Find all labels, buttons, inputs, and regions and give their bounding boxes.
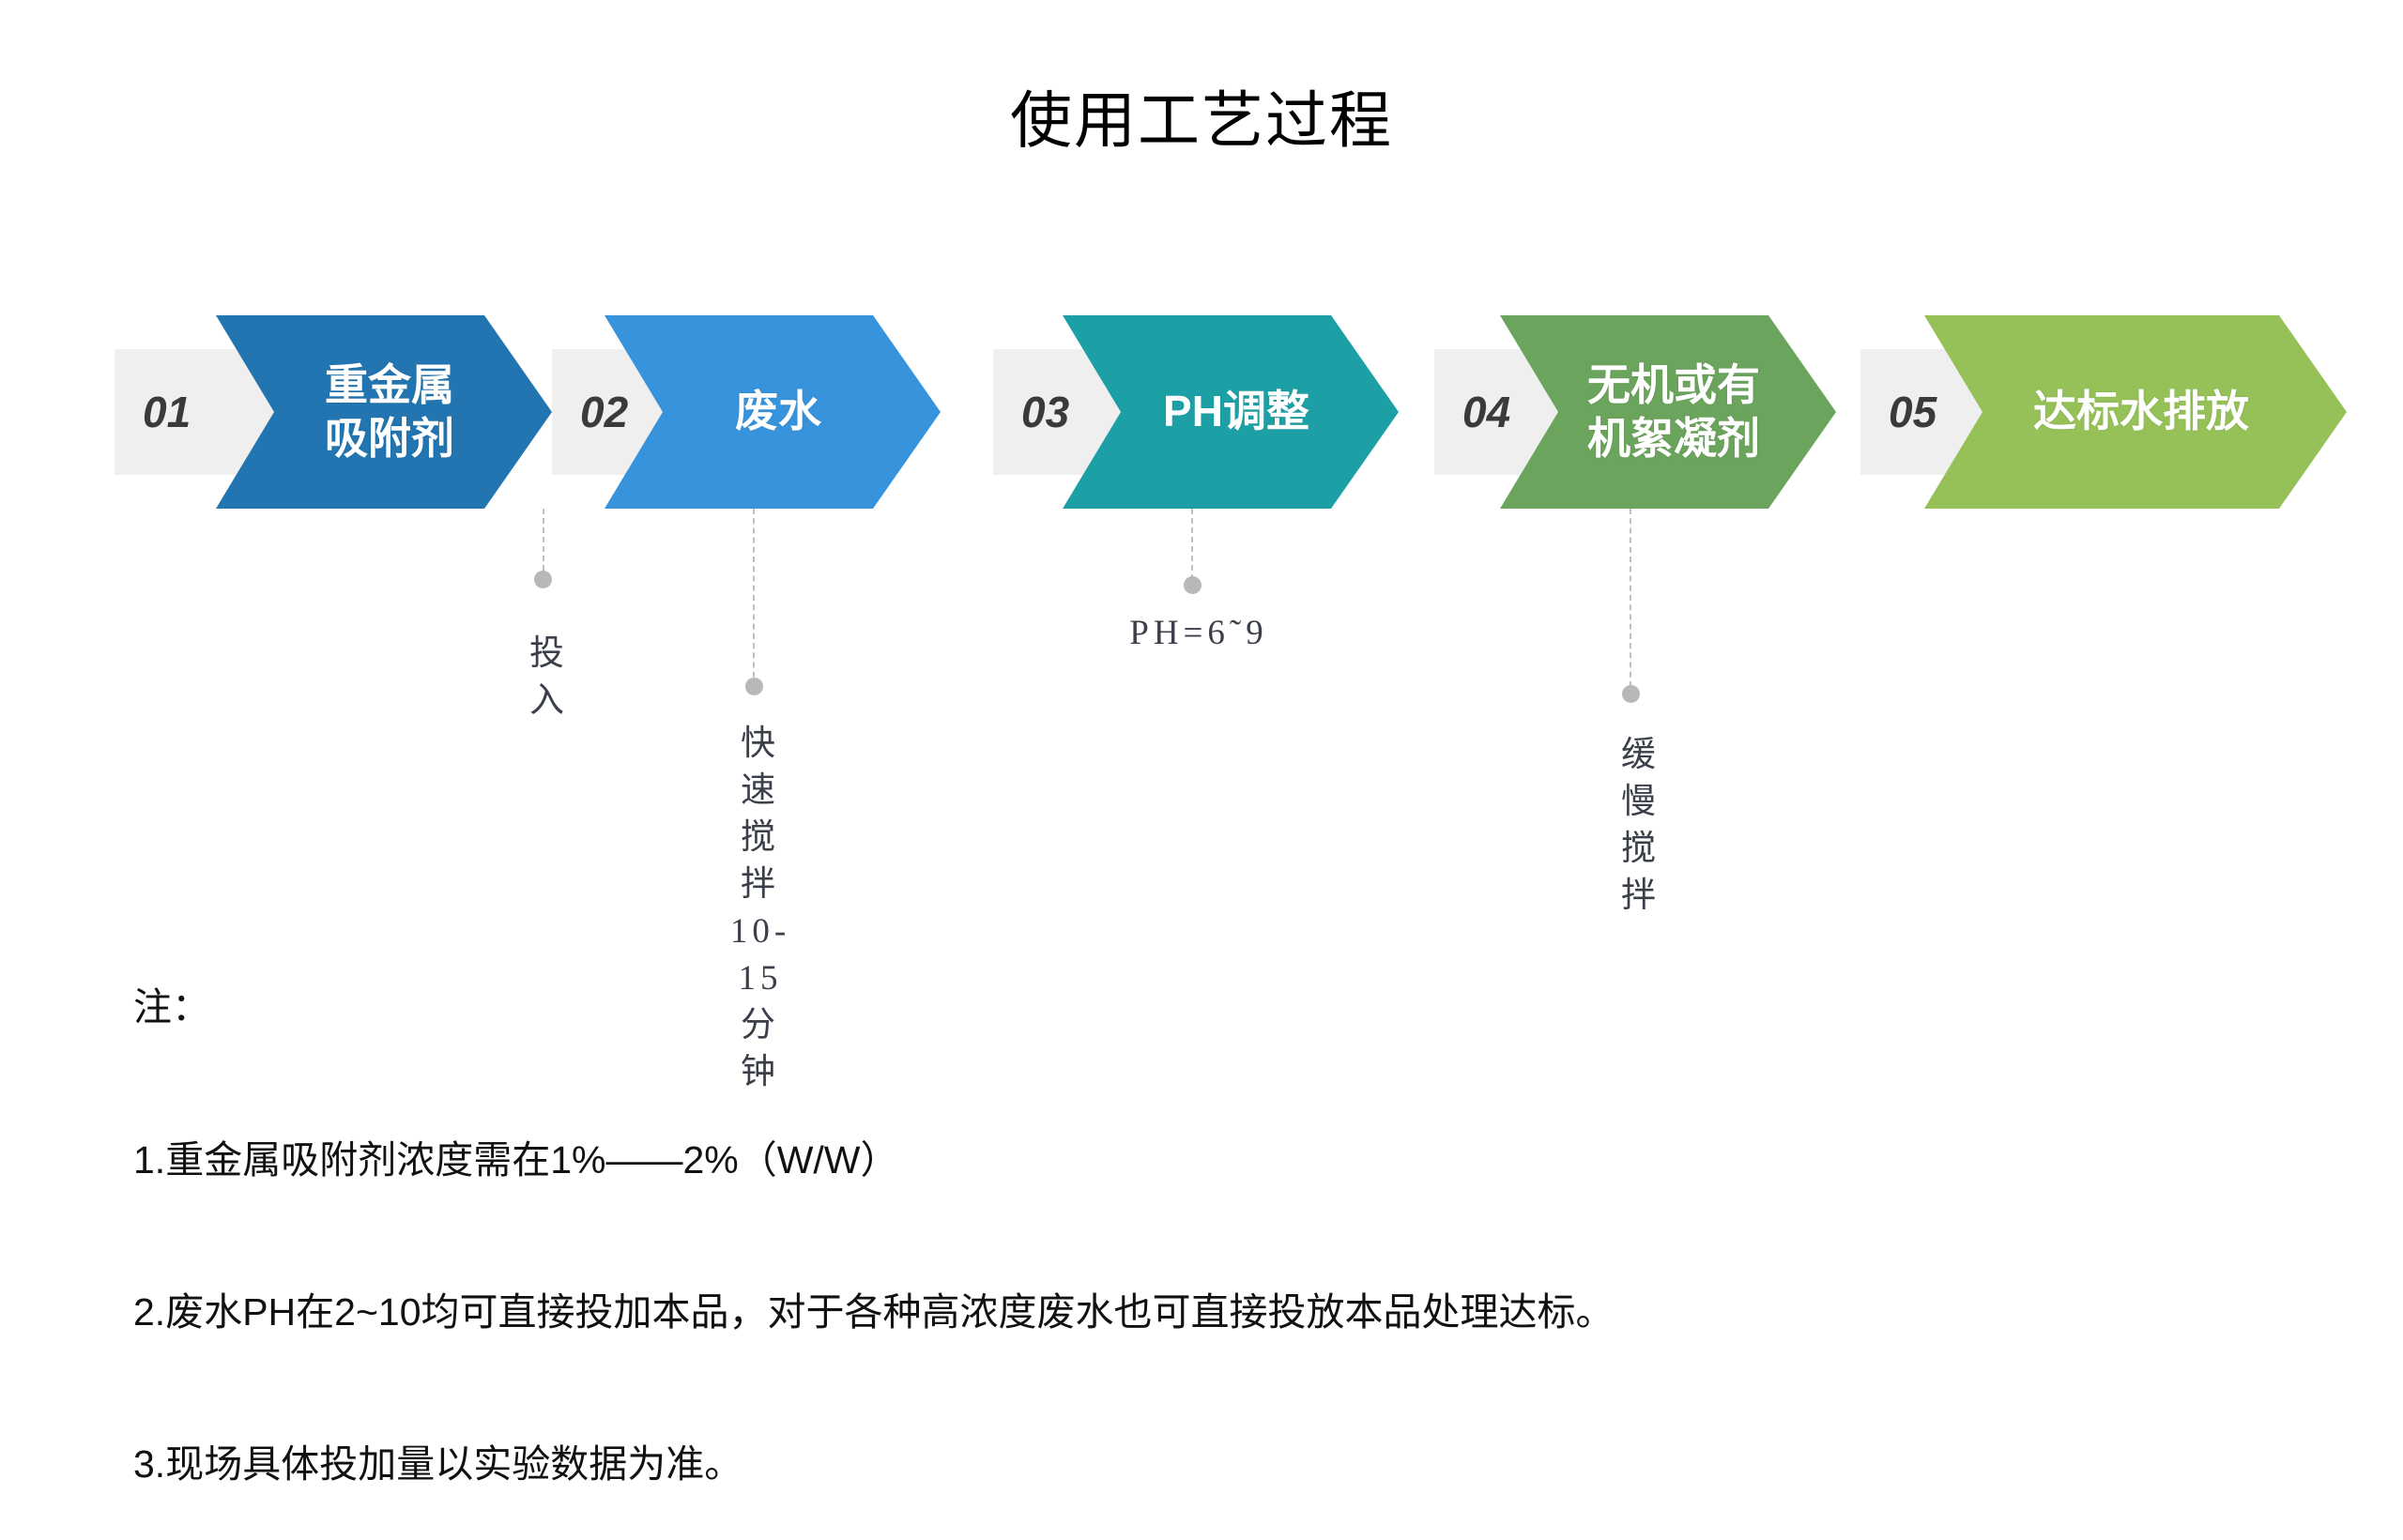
annotation-text-01: 投入 — [529, 631, 569, 724]
step-number-05: 05 — [1860, 387, 1936, 437]
step-number-03: 03 — [993, 387, 1069, 437]
annotation-text-03: PH=6˜9 — [1129, 610, 1268, 657]
leader-dot-03 — [1184, 576, 1201, 594]
step-label-01: 重金属 吸附剂 — [300, 358, 454, 466]
step-number-01: 01 — [115, 387, 191, 437]
step-number-02: 02 — [552, 387, 628, 437]
leader-line-02 — [753, 509, 755, 687]
notes-item-1: 1.重金属吸附剂浓度需在1%——2%（W/W） — [133, 1135, 1615, 1185]
step-label-04: 无机或有 机絮凝剂 — [1563, 358, 1760, 466]
notes-item-3: 3.现场具体投加量以实验数据为准。 — [133, 1439, 1615, 1489]
annotation-text-04: 缓慢搅拌 — [1621, 732, 1661, 920]
notes-item-2: 2.废水PH在2~10均可直接投加本品，对于各种高浓度废水也可直接投放本品处理达… — [133, 1287, 1615, 1337]
notes-heading: 注： — [133, 982, 1615, 1032]
step-number-04: 04 — [1434, 387, 1510, 437]
step-label-03: PH调整 — [1139, 385, 1309, 439]
step-label-05: 达标水排放 — [2009, 385, 2249, 439]
leader-line-03 — [1191, 509, 1193, 580]
leader-dot-02 — [745, 678, 763, 695]
step-label-02: 废水 — [711, 385, 821, 439]
leader-dot-01 — [534, 571, 552, 588]
leader-line-01 — [543, 509, 544, 580]
leader-line-04 — [1630, 509, 1631, 687]
notes-block: 注： 1.重金属吸附剂浓度需在1%——2%（W/W） 2.废水PH在2~10均可… — [133, 880, 1615, 1540]
leader-dot-04 — [1622, 685, 1640, 703]
